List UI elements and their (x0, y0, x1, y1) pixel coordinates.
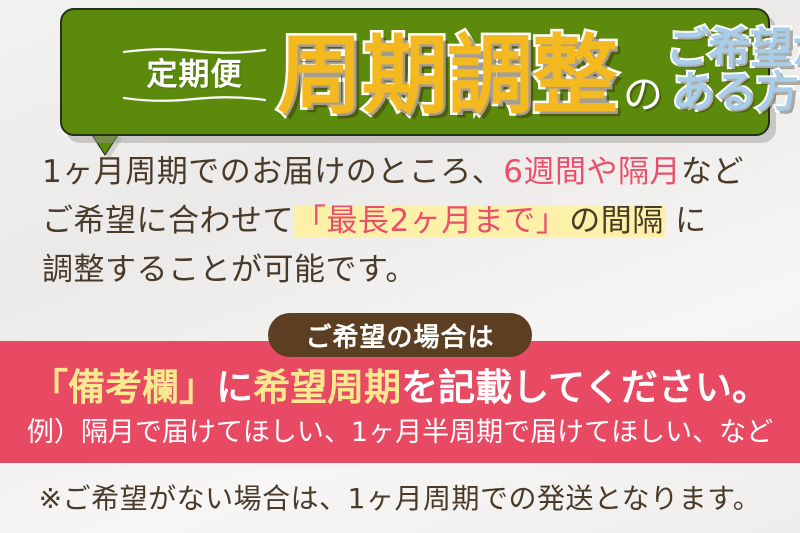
body-line-2: ご希望に合わせて「最長2ヶ月まで」の間隔 に (42, 197, 772, 246)
pink-headline-remarks-field: 「備考欄」 (31, 366, 216, 409)
body-line2-highlight-maxperiod: 「最長2ヶ月まで」 (294, 203, 568, 239)
wave-line-bottom-icon (122, 95, 267, 103)
pink-headline-desired-cycle: 希望周期 (253, 366, 401, 409)
body-line2-part-d: に (665, 203, 707, 239)
body-line2-part-a: ご希望に合わせて (42, 203, 294, 239)
body-line1-part-c: や (586, 154, 618, 190)
request-case-pill: ご希望の場合は (268, 313, 532, 357)
body-line1-accent-6weeks: 6週間 (503, 154, 586, 190)
header-subtitle: ご希望が ある方へ (666, 28, 800, 116)
header-subtitle-line1: ご希望が (666, 28, 800, 72)
pink-callout-band: 「備考欄」に希望周期を記載してください。 例）隔月で届けてほしい、1ヶ月半周期で… (0, 341, 800, 463)
teikibin-badge: 定期便 (112, 40, 277, 110)
body-line1-part-e: など (681, 154, 744, 190)
body-line-1: 1ヶ月周期でのお届けのところ、6週間や隔月など (42, 148, 772, 197)
header-banner: 定期便 周期調整 の ご希望が ある方へ (60, 8, 770, 136)
body-line-3: 調整することが可能です。 (42, 246, 772, 295)
request-case-pill-label: ご希望の場合は (305, 317, 494, 354)
header-bubble-tail (92, 134, 118, 154)
pink-headline-part-b: に (216, 366, 253, 409)
pink-example-text: 例）隔月で届けてほしい、1ヶ月半周期で届けてほしい、など (0, 410, 800, 449)
pink-headline-part-d: を記載してください。 (401, 366, 769, 409)
wave-line-top-icon (122, 47, 267, 55)
body-line1-part-a: 1ヶ月周期でのお届けのところ、 (42, 154, 503, 190)
pink-headline: 「備考欄」に希望周期を記載してください。 (0, 357, 800, 411)
header-main-title: 周期調整 (277, 24, 617, 129)
body-line2-highlight-interval: の間隔 (568, 203, 665, 239)
footer-note: ※ご希望がない場合は、1ヶ月周期での発送となります。 (0, 477, 800, 517)
header-title-particle: の (623, 62, 663, 120)
body-copy: 1ヶ月周期でのお届けのところ、6週間や隔月など ご希望に合わせて「最長2ヶ月まで… (42, 148, 772, 295)
header-subtitle-line2: ある方へ (666, 72, 800, 116)
body-line1-accent-everyothermonth: 隔月 (618, 154, 681, 190)
teikibin-label: 定期便 (147, 58, 243, 92)
